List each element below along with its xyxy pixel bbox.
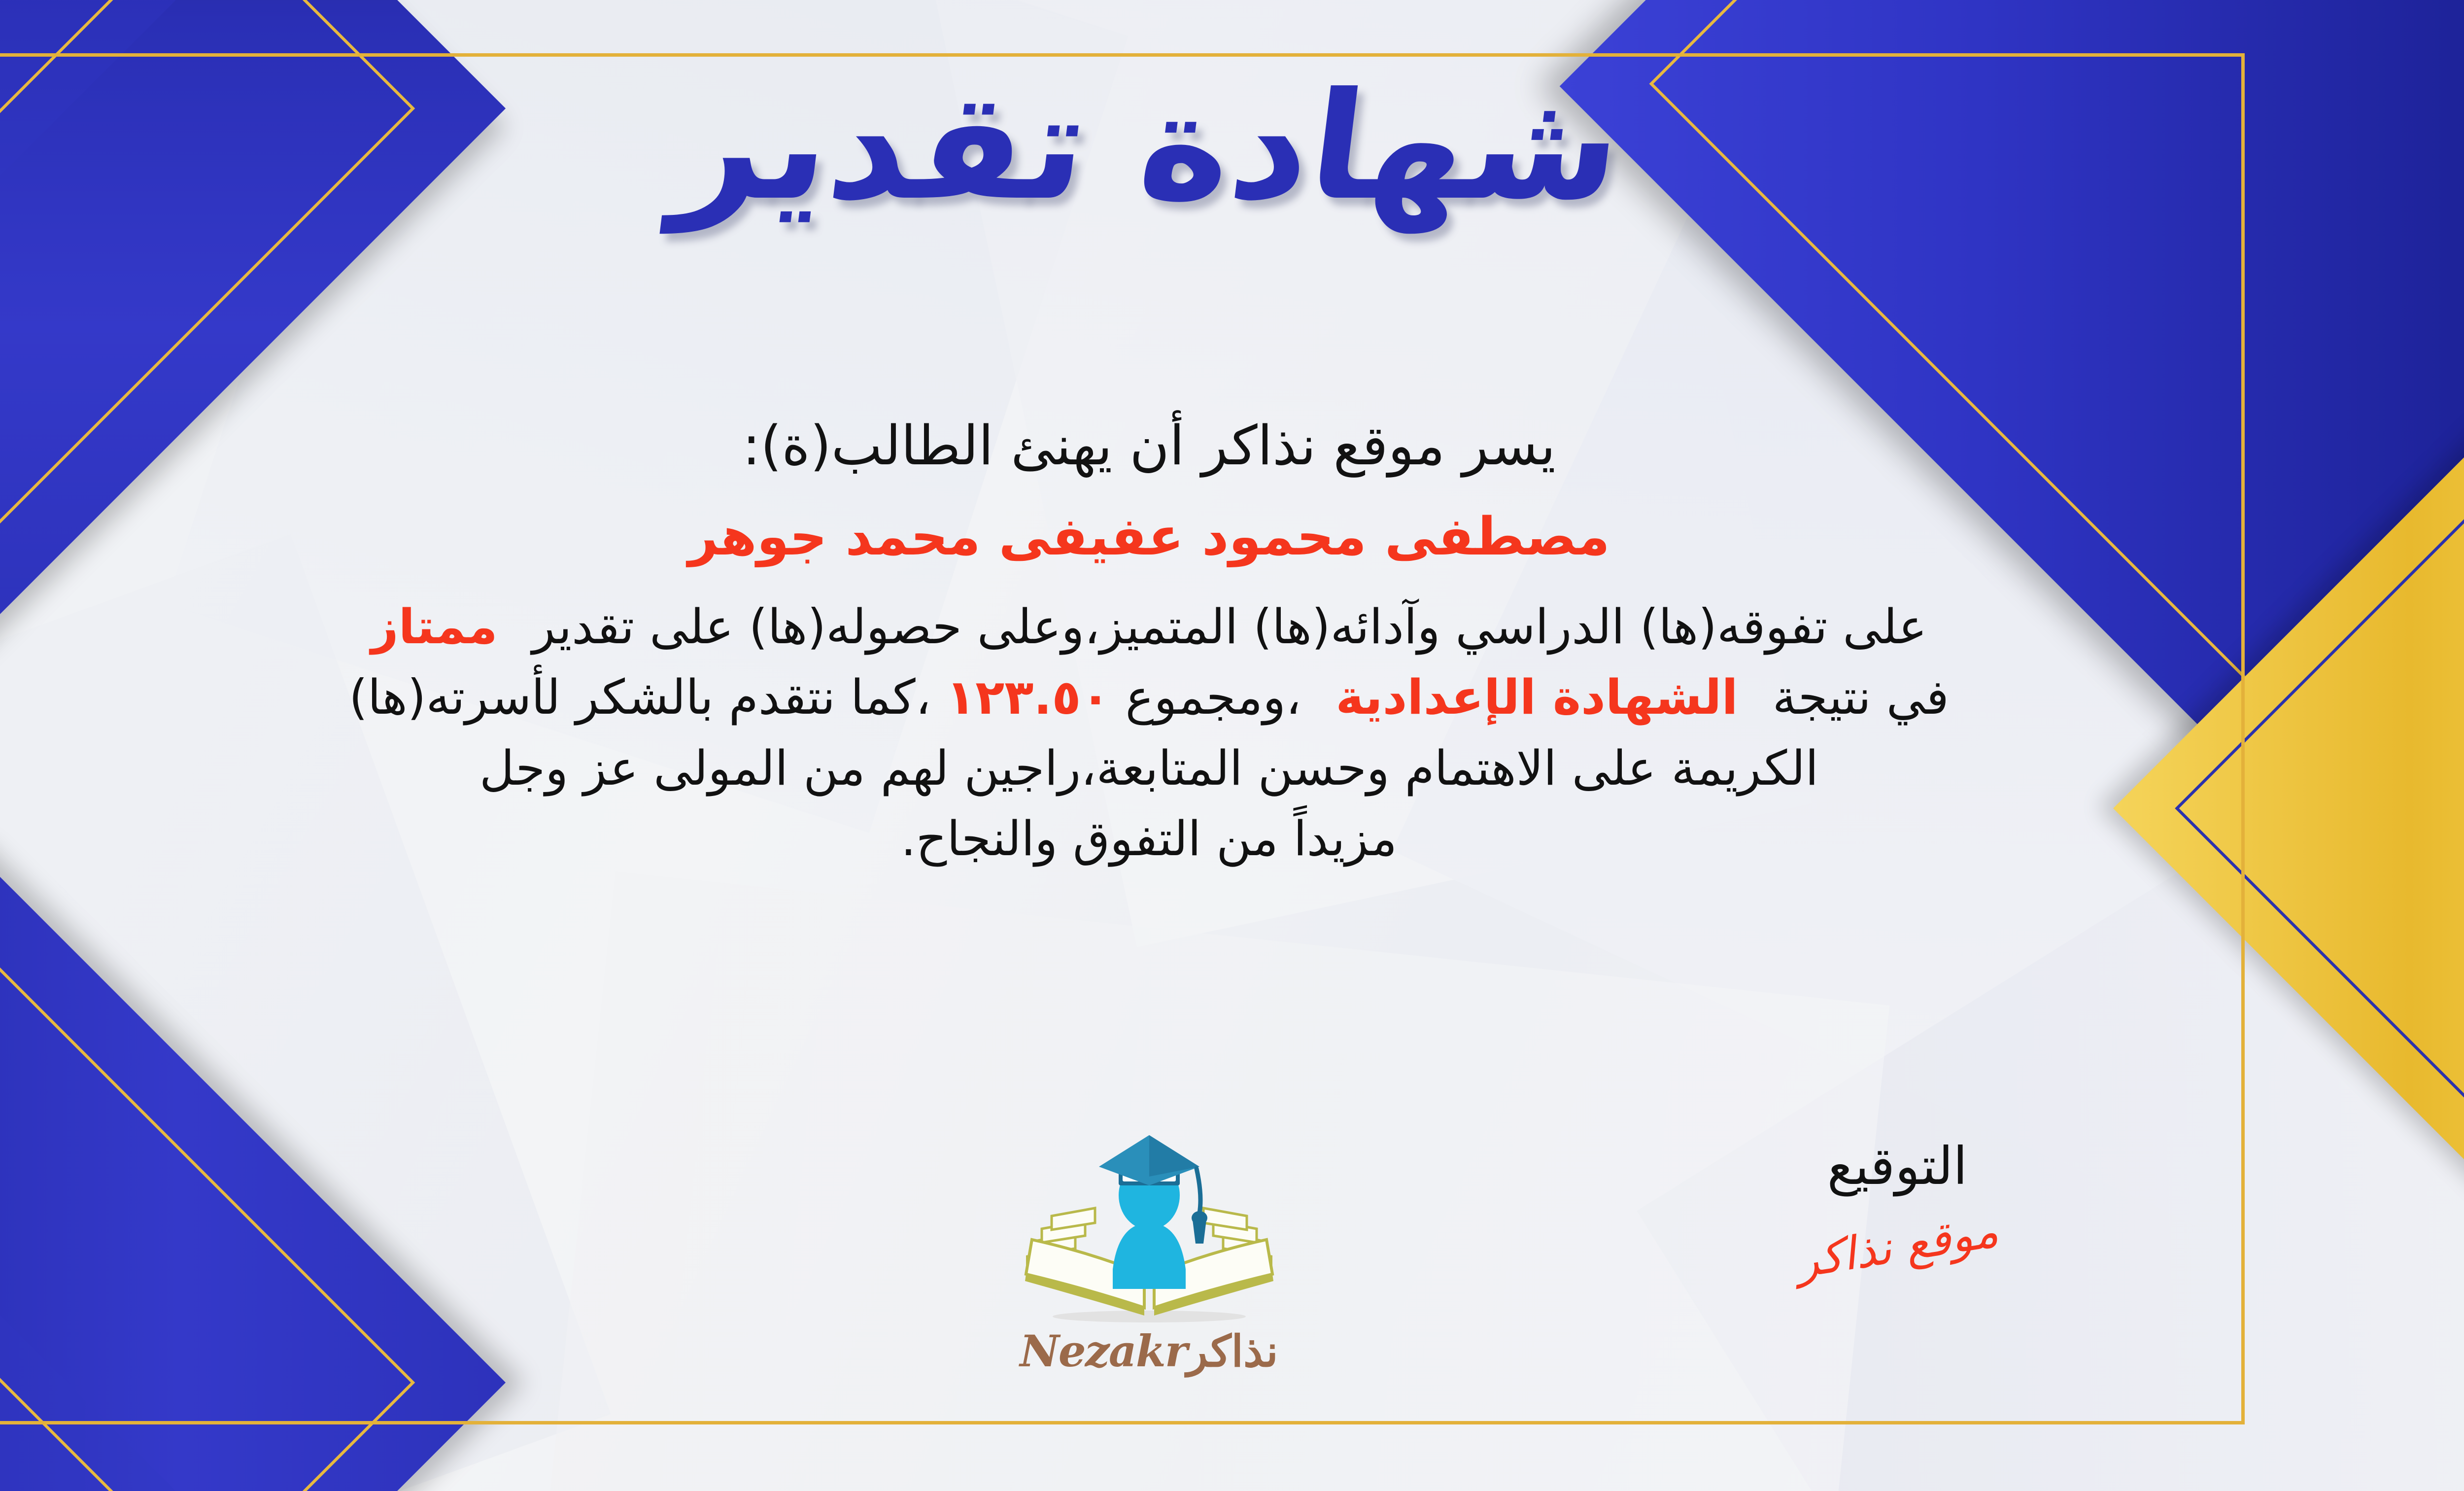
body-line-2-prefix: في نتيجة <box>1773 669 1949 725</box>
body-line-3: الكريمة على الاهتمام وحسن المتابعة،راجين… <box>0 733 2316 804</box>
certificate-body: يسر موقع نذاكر أن يهنئ الطالب(ة): مصطفى … <box>0 409 2316 874</box>
intro-line: يسر موقع نذاكر أن يهنئ الطالب(ة): <box>0 409 2316 483</box>
page-title: شهادة تقدير <box>665 54 1632 239</box>
body-paragraph: على تفوقه(ها) الدراسي وآدائه(ها) المتميز… <box>0 591 2316 874</box>
body-line-4: مزيداً من التفوق والنجاح. <box>0 803 2316 874</box>
exam-name: الشهادة الإعدادية <box>1335 669 1738 725</box>
brand-logo-text: نذاكرNezakr <box>962 1325 1336 1377</box>
brand-name-latin: Nezakr <box>1020 1325 1187 1377</box>
certificate-title-area: شهادة تقدير <box>0 54 2464 239</box>
signature-label: التوقيع <box>1759 1136 2035 1196</box>
signature-block: التوقيع موقع نذاكر <box>1759 1136 2035 1273</box>
body-line-2-suffix: ،كما نتقدم بالشكر لأسرته(ها) <box>349 669 931 725</box>
certificate-footer: التوقيع موقع نذاكر <box>0 1126 2316 1402</box>
brand-logo: نذاكرNezakr <box>962 1126 1336 1377</box>
brand-name-arabic: نذاكر <box>1187 1325 1278 1377</box>
student-name: مصطفى محمود عفيفى محمد جوهر <box>0 501 2316 572</box>
grade-label: ممتاز <box>371 599 498 655</box>
graduate-book-logo-icon <box>996 1126 1302 1333</box>
body-line-1: على تفوقه(ها) الدراسي وآدائه(ها) المتميز… <box>0 591 2316 662</box>
certificate-canvas: شهادة تقدير يسر موقع نذاكر أن يهنئ الطال… <box>0 0 2464 1491</box>
body-line-2: في نتيجةالشهادة الإعدادية،ومجموع ١٢٣.٥٠ … <box>0 662 2316 733</box>
body-line-2-mid: ،ومجموع <box>1126 669 1301 725</box>
body-line-1-text: على تفوقه(ها) الدراسي وآدائه(ها) المتميز… <box>532 599 1927 655</box>
total-score: ١٢٣.٥٠ <box>946 669 1110 725</box>
signature-mark: موقع نذاكر <box>1793 1204 2002 1288</box>
